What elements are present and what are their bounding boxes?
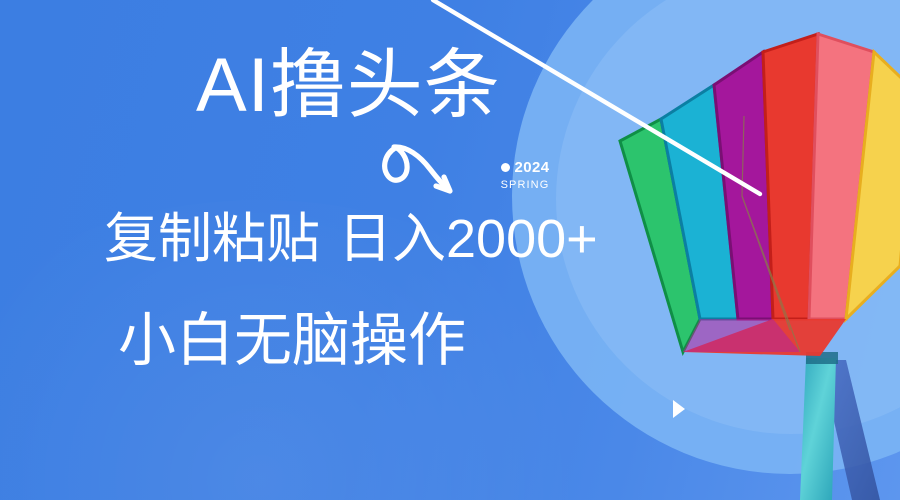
badge-season: SPRING: [482, 180, 568, 191]
play-triangle-icon: [673, 400, 685, 418]
filled-circle-icon: [501, 163, 510, 172]
season-badge: 2024 SPRING: [482, 160, 568, 191]
curly-arrow-svg: [374, 142, 466, 206]
poster-canvas: AI撸头条 2024 SPRING 复制粘贴日入2000+ 小白无脑操作: [0, 0, 900, 500]
subheading-right: 日入2000+: [338, 209, 598, 269]
subheading-left: 复制粘贴: [104, 209, 320, 269]
page-title: AI撸头条: [196, 48, 501, 124]
badge-year-row: 2024: [482, 160, 568, 175]
badge-year: 2024: [515, 160, 550, 175]
subheading: 复制粘贴日入2000+: [104, 212, 598, 266]
tagline: 小白无脑操作: [118, 312, 466, 370]
curly-arrow-icon: [374, 142, 466, 206]
